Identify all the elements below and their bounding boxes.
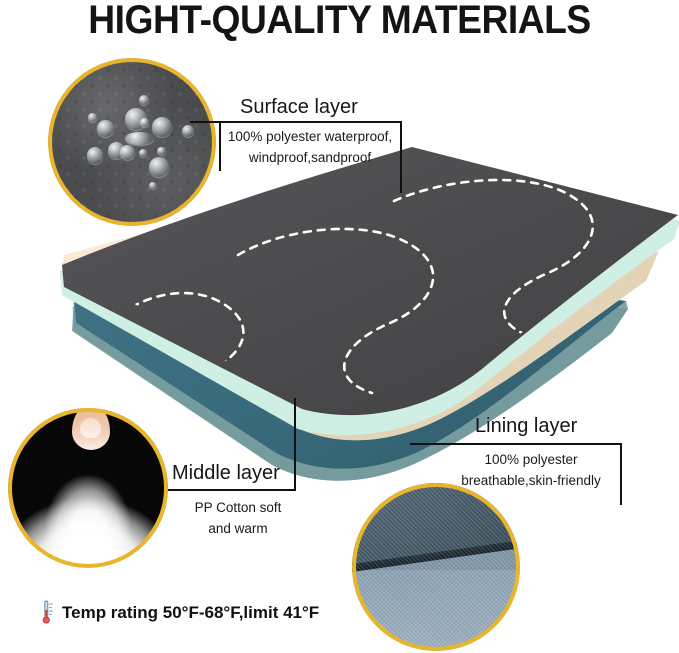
water-droplet-icon [140, 118, 148, 126]
thermometer-icon [40, 599, 55, 626]
water-droplet-icon [182, 125, 194, 137]
lining-box-top-leader [410, 443, 622, 445]
middle-desc-line1: PP Cotton soft [195, 500, 282, 515]
surface-desc-line2: windproof,sandproof [249, 150, 371, 165]
water-droplet-icon [157, 147, 165, 155]
cotton-fiber-peak [27, 434, 149, 546]
lining-desc-line1: 100% polyester [484, 452, 577, 467]
weave-texture [352, 483, 520, 651]
surface-layer-heading: Surface layer [240, 96, 358, 119]
temp-rating: Temp rating 50°F-68°F,limit 41°F [40, 599, 319, 626]
surface-layer-desc: 100% polyester waterproof, windproof,san… [219, 126, 401, 168]
middle-box-bottom-border [168, 489, 296, 491]
lining-layer-photo-inset [352, 483, 520, 651]
temp-rating-label: Temp rating 50°F-68°F,limit 41°F [62, 603, 319, 623]
surface-box-top-border [190, 121, 402, 123]
fingernail [80, 418, 101, 439]
water-droplet-icon [87, 147, 104, 164]
middle-box-right-leader [294, 398, 296, 490]
page-title: HIGHT-QUALITY MATERIALS [24, 0, 655, 43]
lining-desc-line2: breathable,skin-friendly [461, 473, 601, 488]
middle-layer-heading: Middle layer [172, 462, 280, 485]
lining-layer-desc: 100% polyester breathable,skin-friendly [440, 449, 622, 491]
infographic-canvas: HIGHT-QUALITY MATERIALS [0, 0, 679, 653]
middle-desc-line2: and warm [208, 521, 267, 536]
water-droplet-icon [88, 113, 96, 121]
middle-layer-photo-inset [8, 408, 168, 568]
surface-layer-photo-inset [48, 58, 216, 226]
lining-layer-heading: Lining layer [475, 415, 577, 438]
surface-desc-line1: 100% polyester waterproof, [228, 129, 392, 144]
water-droplet-icon [97, 120, 114, 137]
middle-layer-desc: PP Cotton soft and warm [168, 497, 308, 539]
water-droplet-icon [139, 95, 149, 105]
